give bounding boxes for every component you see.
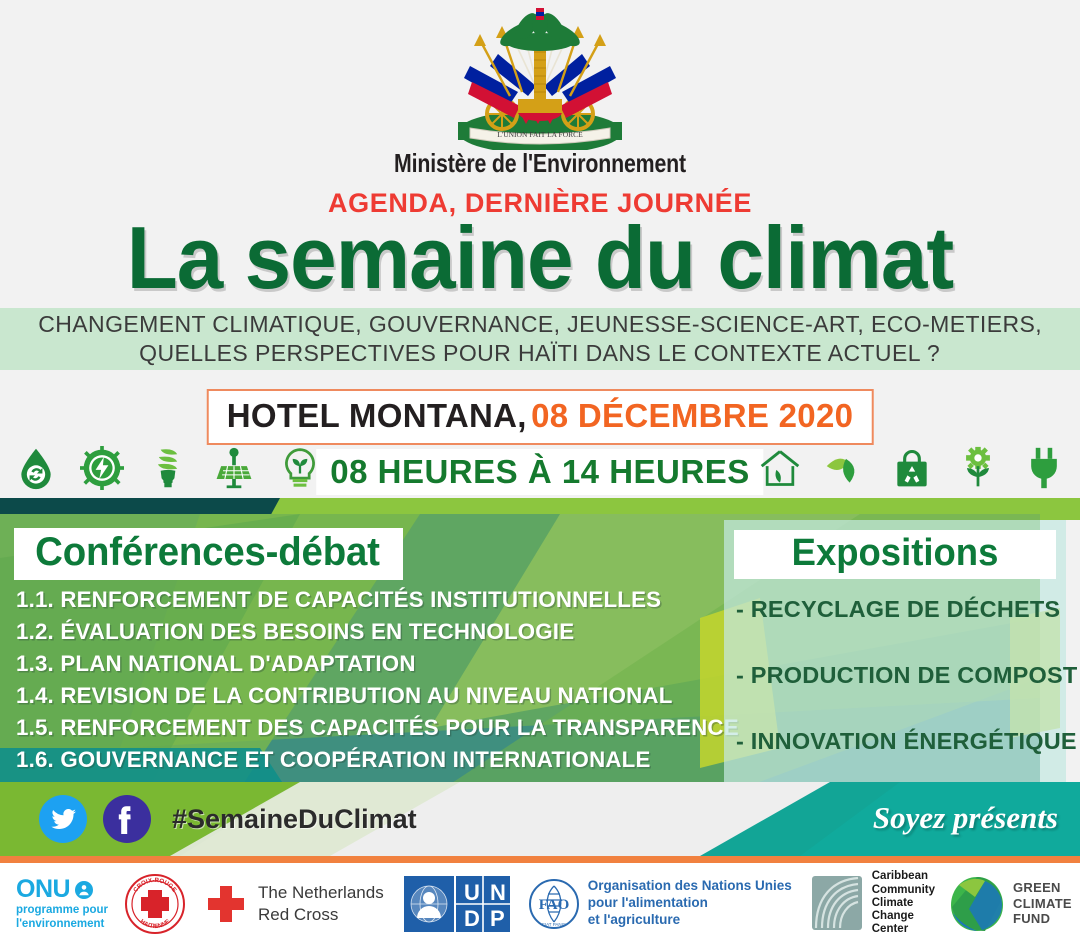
- ccccc-icon: [810, 874, 864, 932]
- conferences-title: Conférences-débat: [35, 530, 380, 575]
- energy-bolt-gear-icon: [80, 444, 124, 492]
- list-item: - RECYCLAGE DE DÉCHETS: [736, 596, 1058, 623]
- social-band: #SemaineDuClimat Soyez présents: [0, 782, 1080, 856]
- gcf-line-1: GREEN: [1013, 880, 1072, 896]
- expositions-panel: Expositions - RECYCLAGE DE DÉCHETS - PRO…: [724, 520, 1066, 804]
- logo-fao: FAO FIAT PANIS Organisation des Nations …: [528, 878, 792, 930]
- sponsor-logos-bar: ONU programme pour l'environnement: [0, 863, 1080, 944]
- nlrc-line-1: The Netherlands: [258, 882, 384, 903]
- undp-letter-u: U: [464, 880, 480, 905]
- ccccc-line-2: Community: [872, 884, 935, 897]
- ccccc-line-5: Center: [872, 923, 935, 936]
- ccccc-line-1: Caribbean: [872, 870, 935, 883]
- logo-undp: U N D P: [404, 876, 510, 932]
- undp-icon: U N D P: [404, 876, 510, 932]
- unep-globe-icon: [74, 880, 94, 900]
- undp-letter-p: P: [490, 906, 505, 931]
- cfl-bulb-leaf-icon: [146, 444, 190, 492]
- twitter-icon[interactable]: [38, 794, 88, 844]
- ccccc-line-4: Change: [872, 910, 935, 923]
- flower-gear-icon: [956, 444, 1000, 492]
- call-to-action: Soyez présents: [873, 800, 1058, 836]
- green-climate-fund-icon: [949, 875, 1005, 933]
- venue-hours: 08 HEURES À 14 HEURES: [316, 449, 763, 495]
- fao-line-2: pour l'alimentation: [588, 895, 792, 912]
- subtitle-line-1: CHANGEMENT CLIMATIQUE, GOUVERNANCE, JEUN…: [38, 310, 1042, 339]
- list-item: 1.3. PLAN NATIONAL D'ADAPTATION: [16, 648, 709, 680]
- eco-house-leaf-icon: [758, 444, 802, 492]
- logo-ccccc: Caribbean Community Climate Change Cente…: [810, 870, 935, 937]
- list-item: 1.5. RENFORCEMENT DES CAPACITÉS POUR LA …: [16, 712, 709, 744]
- venue-place: HOTEL MONTANA,: [227, 397, 527, 434]
- fao-letters: FAO: [538, 897, 569, 913]
- page-title: La semaine du climat: [27, 214, 1053, 302]
- list-item: 1.2. ÉVALUATION DES BESOINS EN TECHNOLOG…: [16, 616, 709, 648]
- unep-sub-line-2: l'environnement: [16, 918, 108, 932]
- haiti-coat-of-arms-icon: L'UNION FAIT LA FORCE: [440, 4, 640, 150]
- list-item: - INNOVATION ÉNERGÉTIQUE: [736, 728, 1058, 755]
- list-item: 1.4. REVISION DE LA CONTRIBUTION AU NIVE…: [16, 680, 709, 712]
- venue-box: HOTEL MONTANA, 08 DÉCEMBRE 2020: [207, 389, 874, 445]
- ccccc-line-3: Climate: [872, 897, 935, 910]
- crest-container: L'UNION FAIT LA FORCE: [0, 4, 1080, 150]
- two-leaves-icon: [824, 444, 868, 492]
- croix-rouge-haitienne-icon: CROIX-ROUGE HAITIENNE: [124, 873, 186, 935]
- list-item: - PRODUCTION DE COMPOST: [736, 662, 1058, 689]
- list-item: 1.6. GOUVERNANCE ET COOPÉRATION INTERNAT…: [16, 744, 709, 776]
- unep-wordmark: ONU: [16, 875, 70, 904]
- eco-icons-left: [14, 444, 322, 492]
- list-item: 1.1. RENFORCEMENT DE CAPACITÉS INSTITUTI…: [16, 584, 709, 616]
- crest-motto: L'UNION FAIT LA FORCE: [497, 130, 583, 139]
- logo-croix-rouge-haitienne: CROIX-ROUGE HAITIENNE: [124, 873, 186, 935]
- power-plug-icon: [1022, 444, 1066, 492]
- ministry-name: Ministère de l'Environnement: [97, 148, 983, 179]
- subtitle-line-2: QUELLES PERSPECTIVES POUR HAÏTI DANS LE …: [140, 339, 941, 368]
- poster-root: L'UNION FAIT LA FORCE Ministère de l'Env…: [0, 0, 1080, 944]
- solar-panel-icon: [212, 444, 256, 492]
- venue-date: 08 DÉCEMBRE 2020: [531, 397, 853, 434]
- unep-sub-line-1: programme pour: [16, 904, 108, 918]
- red-cross-icon: [204, 882, 248, 926]
- facebook-icon[interactable]: [102, 794, 152, 844]
- lightbulb-plant-icon: [278, 444, 322, 492]
- undp-letter-n: N: [490, 880, 506, 905]
- conferences-list: 1.1. RENFORCEMENT DE CAPACITÉS INSTITUTI…: [16, 584, 716, 776]
- expositions-list: - RECYCLAGE DE DÉCHETS - PRODUCTION DE C…: [736, 596, 1058, 794]
- water-drop-recycle-icon: [14, 444, 58, 492]
- expositions-title-box: Expositions: [734, 530, 1056, 579]
- undp-letter-d: D: [464, 906, 480, 931]
- svg-text:FIAT PANIS: FIAT PANIS: [542, 922, 566, 927]
- eco-icons-right: [758, 444, 1066, 492]
- subtitle-band: CHANGEMENT CLIMATIQUE, GOUVERNANCE, JEUN…: [0, 308, 1080, 370]
- logo-green-climate-fund: GREEN CLIMATE FUND: [949, 875, 1072, 933]
- orange-divider-bar: [0, 856, 1080, 863]
- gcf-line-3: FUND: [1013, 911, 1072, 927]
- expositions-title: Expositions: [740, 532, 1049, 575]
- logo-netherlands-red-cross: The Netherlands Red Cross: [204, 882, 384, 926]
- fao-icon: FAO FIAT PANIS: [528, 878, 580, 930]
- logo-unep: ONU programme pour l'environnement: [16, 875, 108, 932]
- conferences-title-box: Conférences-débat: [14, 528, 403, 580]
- gcf-line-2: CLIMATE: [1013, 896, 1072, 912]
- fao-line-3: et l'agriculture: [588, 912, 792, 929]
- recycle-bag-icon: [890, 444, 934, 492]
- social-icons[interactable]: [38, 794, 152, 844]
- hashtag-text: #SemaineDuClimat: [172, 804, 417, 835]
- nlrc-line-2: Red Cross: [258, 904, 384, 925]
- fao-line-1: Organisation des Nations Unies: [588, 878, 792, 895]
